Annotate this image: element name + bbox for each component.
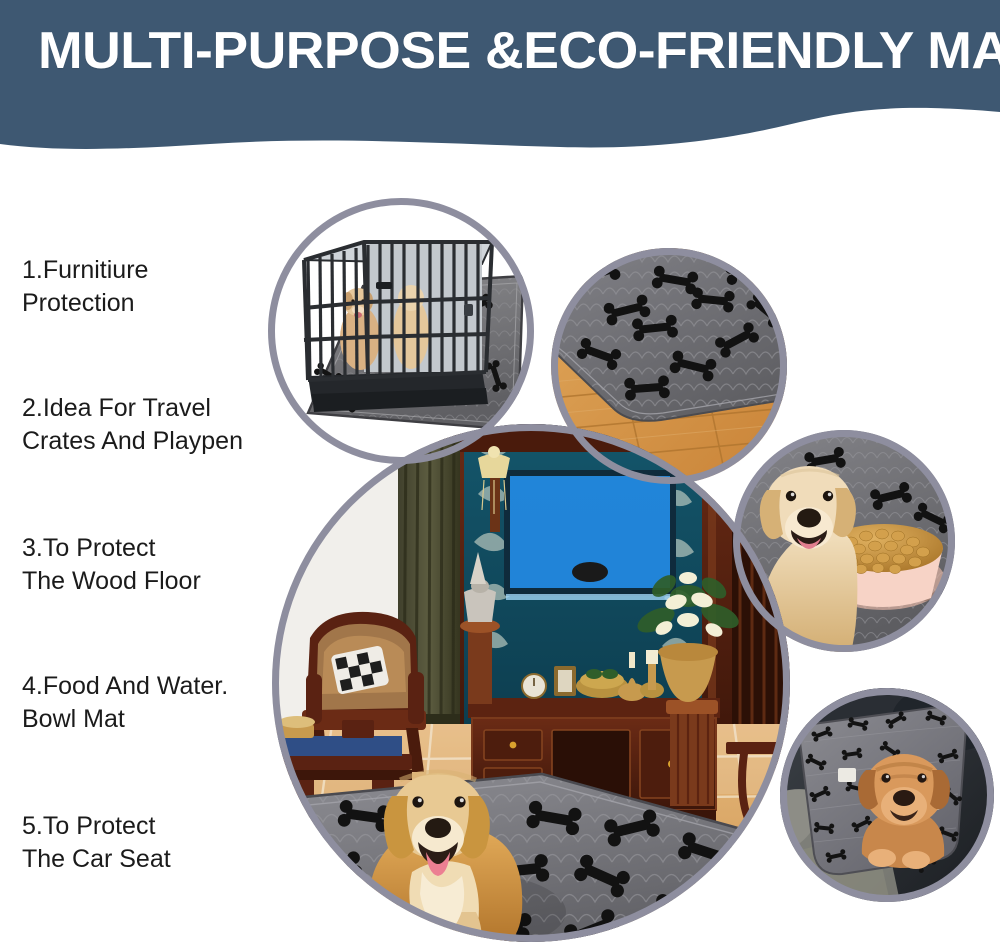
living-room-photo <box>272 424 790 942</box>
car-seat-photo <box>780 688 994 902</box>
infographic-page: MULTI-PURPOSE &ECO-FRIENDLY MAT 1.Furnit… <box>0 0 1000 946</box>
photo-collage <box>0 0 1000 946</box>
